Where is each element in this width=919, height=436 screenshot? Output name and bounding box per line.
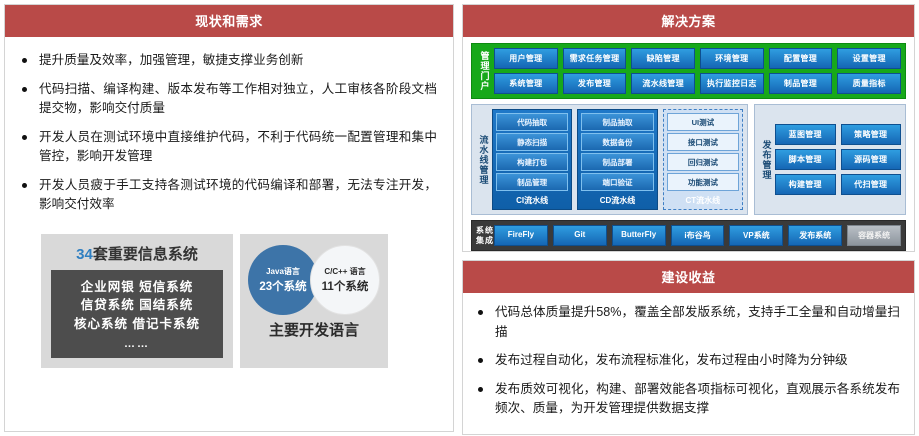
pipeline-step[interactable]: 制品部署 <box>581 153 653 171</box>
pipeline-step[interactable]: 制品管理 <box>496 173 568 191</box>
system-integration-list: FireFly Git ButterFly i布谷鸟 VP系统 发布系统 容器系… <box>494 225 901 246</box>
list-item: 信贷系统 国结系统 <box>55 296 219 315</box>
release-management-band: 发布管理 蓝图管理 策略管理 脚本管理 源码管理 构建管理 代扫管理 <box>754 104 906 215</box>
list-item: 发布质效可视化，构建、部署效能各项指标可视化，直观展示各系统发布频次、质量，为开… <box>475 380 900 419</box>
portal-chip[interactable]: 用户管理 <box>494 48 558 69</box>
portal-chip[interactable]: 设置管理 <box>837 48 901 69</box>
system-integration-band: 系统 集成 FireFly Git ButterFly i布谷鸟 VP系统 发布… <box>471 220 906 251</box>
portal-chip[interactable]: 质量指标 <box>837 73 901 94</box>
list-item: 发布过程自动化，发布流程标准化，发布过程由小时降为分钟级 <box>475 351 900 371</box>
release-chip[interactable]: 蓝图管理 <box>775 124 836 145</box>
benefit-body: 代码总体质量提升58%，覆盖全部发版系统，支持手工全量和自动增量扫描 发布过程自… <box>463 293 914 434</box>
portal-chip[interactable]: 缺陷管理 <box>631 48 695 69</box>
portal-chip[interactable]: 环境管理 <box>700 48 764 69</box>
pipeline-column-ct: UI测试 接口测试 回归测试 功能测试 CT流水线 <box>663 109 743 210</box>
solution-title: 解决方案 <box>463 5 914 37</box>
list-item: 开发人员疲于手工支持各测试环境的代码编译和部署，无法专注开发，影响交付效率 <box>19 176 437 215</box>
venn-java-value: 23个系统 <box>259 278 306 294</box>
benefit-panel: 建设收益 代码总体质量提升58%，覆盖全部发版系统，支持手工全量和自动增量扫描 … <box>462 260 915 435</box>
current-status-panel: 现状和需求 提升质量及效率，加强管理，敏捷支撑业务创新 代码扫描、编译构建、版本… <box>4 4 454 432</box>
pipeline-step[interactable]: 回归测试 <box>667 153 739 171</box>
ellipsis-text: …… <box>55 334 219 353</box>
release-management-grid: 蓝图管理 策略管理 脚本管理 源码管理 构建管理 代扫管理 <box>775 109 901 210</box>
list-item: 代码扫描、编译构建、版本发布等工作相对独立，人工审核各阶段文档提交物，影响交付质… <box>19 80 437 119</box>
list-item: 提升质量及效率，加强管理，敏捷支撑业务创新 <box>19 51 437 71</box>
integration-chip[interactable]: FireFly <box>494 225 548 246</box>
integration-chip[interactable]: Git <box>553 225 607 246</box>
current-status-body: 提升质量及效率，加强管理，敏捷支撑业务创新 代码扫描、编译构建、版本发布等工作相… <box>5 37 453 431</box>
pipeline-step[interactable]: 端口验证 <box>581 173 653 191</box>
pipeline-columns: 代码抽取 静态扫描 构建打包 制品管理 CI流水线 制品抽取 数据备份 制品部署 <box>492 109 743 210</box>
release-management-label: 发布管理 <box>759 109 775 210</box>
management-portal-band: 管理门户 用户管理 需求任务管理 缺陷管理 环境管理 配置管理 设置管理 系统管… <box>471 43 906 99</box>
pipeline-step[interactable]: 接口测试 <box>667 133 739 151</box>
systems-name-list: 企业网银 短信系统 信贷系统 国结系统 核心系统 借记卡系统 …… <box>51 270 223 359</box>
pipeline-step[interactable]: 功能测试 <box>667 173 739 191</box>
portal-chip[interactable]: 流水线管理 <box>631 73 695 94</box>
release-chip[interactable]: 策略管理 <box>841 124 902 145</box>
right-column: 解决方案 管理门户 用户管理 需求任务管理 缺陷管理 环境管理 配置管理 设置管… <box>462 4 915 432</box>
benefit-bullet-list: 代码总体质量提升58%，覆盖全部发版系统，支持手工全量和自动增量扫描 发布过程自… <box>475 303 900 419</box>
solution-panel: 解决方案 管理门户 用户管理 需求任务管理 缺陷管理 环境管理 配置管理 设置管… <box>462 4 915 252</box>
venn-caption: 主要开发语言 <box>269 319 359 340</box>
pipeline-step[interactable]: UI测试 <box>667 113 739 131</box>
portal-chip[interactable]: 配置管理 <box>769 48 833 69</box>
benefit-title: 建设收益 <box>463 261 914 293</box>
pipeline-step[interactable]: 静态扫描 <box>496 133 568 151</box>
pipeline-column-name: CD流水线 <box>581 193 653 206</box>
solution-diagram: 管理门户 用户管理 需求任务管理 缺陷管理 环境管理 配置管理 设置管理 系统管… <box>463 37 914 258</box>
current-status-title: 现状和需求 <box>5 5 453 37</box>
pipeline-step[interactable]: 构建打包 <box>496 153 568 171</box>
integration-chip[interactable]: 发布系统 <box>788 225 842 246</box>
pipeline-management-label: 流水线管理 <box>476 109 492 210</box>
systems-graphic: 34套重要信息系统 企业网银 短信系统 信贷系统 国结系统 核心系统 借记卡系统… <box>5 228 453 379</box>
system-integration-label: 系统 集成 <box>476 225 494 246</box>
slide-root: 现状和需求 提升质量及效率，加强管理，敏捷支撑业务创新 代码扫描、编译构建、版本… <box>0 0 919 436</box>
integration-chip[interactable]: 容器系统 <box>847 225 901 246</box>
venn-diagram: Java语言 23个系统 C/C++ 语言 11个系统 <box>248 245 380 315</box>
portal-chip[interactable]: 执行监控日志 <box>700 73 764 94</box>
systems-title-rest: 套重要信息系统 <box>93 246 198 263</box>
pipeline-step[interactable]: 代码抽取 <box>496 113 568 131</box>
integration-chip[interactable]: i布谷鸟 <box>671 225 725 246</box>
list-item: 核心系统 借记卡系统 <box>55 315 219 334</box>
management-portal-label: 管理门户 <box>476 48 494 94</box>
release-chip[interactable]: 脚本管理 <box>775 149 836 170</box>
current-status-bullet-list: 提升质量及效率，加强管理，敏捷支撑业务创新 代码扫描、编译构建、版本发布等工作相… <box>5 37 453 228</box>
portal-chip[interactable]: 系统管理 <box>494 73 558 94</box>
pipeline-step[interactable]: 数据备份 <box>581 133 653 151</box>
integration-chip[interactable]: VP系统 <box>729 225 783 246</box>
pipeline-column-name: CT流水线 <box>667 193 739 206</box>
pipeline-management-band: 流水线管理 代码抽取 静态扫描 构建打包 制品管理 CI流水线 制品抽取 <box>471 104 748 215</box>
pipeline-column-name: CI流水线 <box>496 193 568 206</box>
integration-chip[interactable]: ButterFly <box>612 225 666 246</box>
list-item: 代码总体质量提升58%，覆盖全部发版系统，支持手工全量和自动增量扫描 <box>475 303 900 342</box>
systems-box: 34套重要信息系统 企业网银 短信系统 信贷系统 国结系统 核心系统 借记卡系统… <box>41 234 233 369</box>
pipeline-release-row: 流水线管理 代码抽取 静态扫描 构建打包 制品管理 CI流水线 制品抽取 <box>471 104 906 215</box>
venn-circle-java: Java语言 23个系统 <box>248 245 318 315</box>
portal-chip[interactable]: 制品管理 <box>769 73 833 94</box>
venn-circle-cpp: C/C++ 语言 11个系统 <box>310 245 380 315</box>
pipeline-column-cd: 制品抽取 数据备份 制品部署 端口验证 CD流水线 <box>577 109 657 210</box>
portal-chip[interactable]: 发布管理 <box>563 73 627 94</box>
management-portal-grid: 用户管理 需求任务管理 缺陷管理 环境管理 配置管理 设置管理 系统管理 发布管… <box>494 48 901 94</box>
release-chip[interactable]: 代扫管理 <box>841 174 902 195</box>
venn-java-label: Java语言 <box>266 266 300 277</box>
pipeline-step[interactable]: 制品抽取 <box>581 113 653 131</box>
system-integration-label-line2: 集成 <box>476 236 494 246</box>
left-column: 现状和需求 提升质量及效率，加强管理，敏捷支撑业务创新 代码扫描、编译构建、版本… <box>4 4 454 432</box>
systems-count: 34 <box>76 246 93 263</box>
venn-cpp-value: 11个系统 <box>322 278 369 294</box>
list-item: 开发人员在测试环境中直接维护代码，不利于代码统一配置管理和集中管控，影响开发管理 <box>19 128 437 167</box>
pipeline-column-ci: 代码抽取 静态扫描 构建打包 制品管理 CI流水线 <box>492 109 572 210</box>
release-chip[interactable]: 构建管理 <box>775 174 836 195</box>
venn-cpp-label: C/C++ 语言 <box>324 266 365 277</box>
language-venn-box: Java语言 23个系统 C/C++ 语言 11个系统 主要开发语言 <box>240 234 388 369</box>
portal-chip[interactable]: 需求任务管理 <box>563 48 627 69</box>
systems-box-title: 34套重要信息系统 <box>51 243 223 264</box>
list-item: 企业网银 短信系统 <box>55 278 219 297</box>
system-integration-label-line1: 系统 <box>476 226 494 236</box>
release-chip[interactable]: 源码管理 <box>841 149 902 170</box>
